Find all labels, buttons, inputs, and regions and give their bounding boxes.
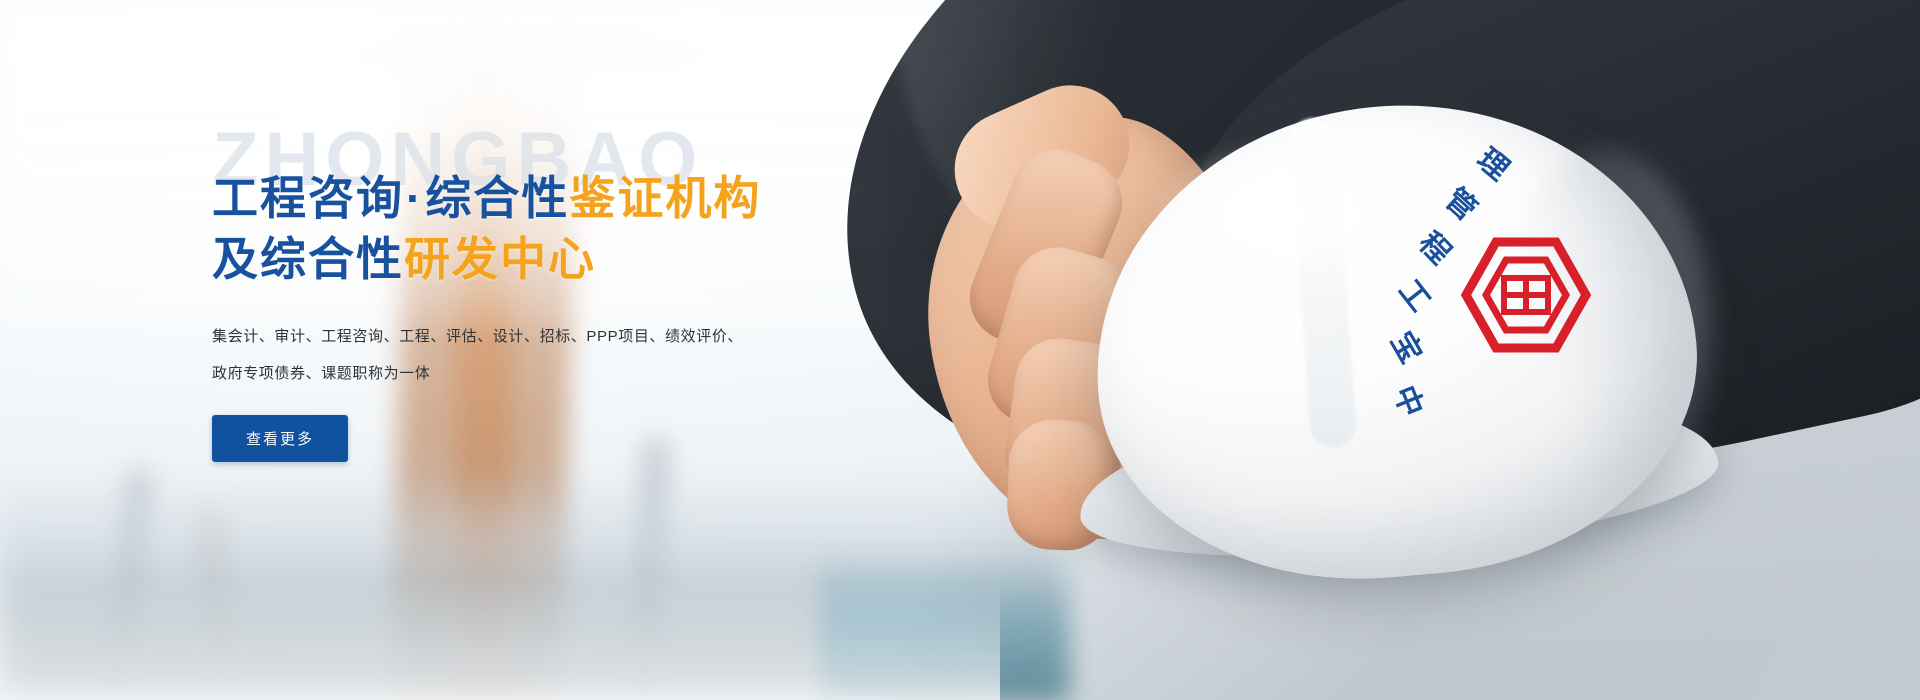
helmet-char-1: 理 [1469, 136, 1520, 189]
helmet-char-2: 管 [1437, 176, 1489, 229]
zhongbao-hexagon-logo-icon [1460, 236, 1592, 354]
headline-accent-2: 研发中心 [404, 233, 596, 285]
hero-headline-line-2: 及综合性研发中心 [212, 229, 912, 290]
helmet-char-3: 程 [1411, 220, 1463, 272]
hero-copy: 工程咨询·综合性鉴证机构 及综合性研发中心 集会计、审计、工程咨询、工程、评估、… [212, 168, 912, 462]
hero-banner: 理 管 程 工 宝 中 ZHONGBAO 工程咨询·综合性鉴证机构 及综合性研发… [0, 0, 1920, 700]
hero-description: 集会计、审计、工程咨询、工程、评估、设计、招标、PPP项目、绩效评价、 政府专项… [212, 319, 912, 393]
headline-part-2: 综合性 [425, 172, 569, 224]
hero-description-line-1: 集会计、审计、工程咨询、工程、评估、设计、招标、PPP项目、绩效评价、 [212, 319, 912, 356]
headline-accent-1: 鉴证机构 [569, 172, 761, 224]
headline-separator: · [404, 172, 425, 224]
headline-part-3: 及综合性 [212, 233, 404, 285]
hero-headline-line-1: 工程咨询·综合性鉴证机构 [212, 168, 912, 229]
hard-hat-highlight [1150, 140, 1430, 290]
view-more-button[interactable]: 查看更多 [212, 415, 348, 462]
hero-description-line-2: 政府专项债券、课题职称为一体 [212, 356, 912, 393]
headline-part-1: 工程咨询 [212, 172, 404, 224]
